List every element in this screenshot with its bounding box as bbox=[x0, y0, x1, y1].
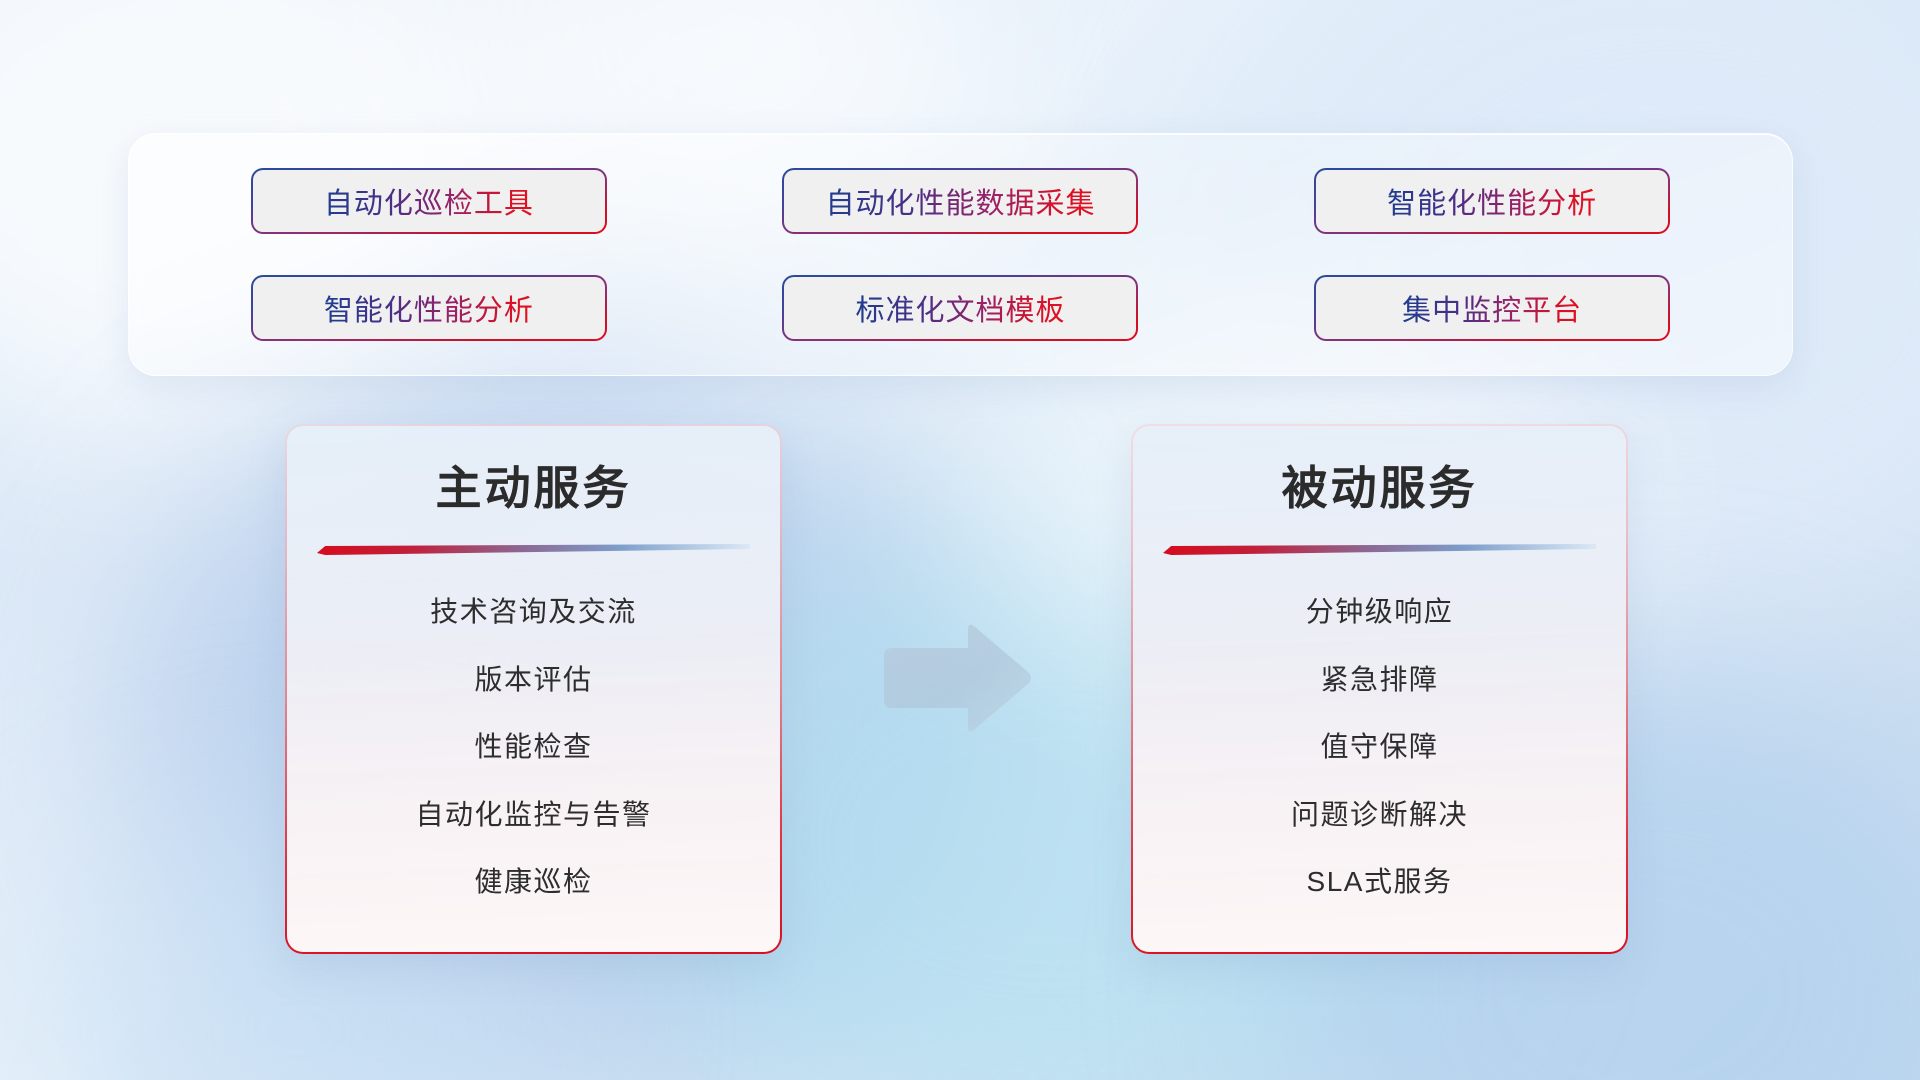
capability-pill-label: 智能化性能分析 bbox=[1387, 180, 1597, 222]
capability-pill-automated-performance-data-collection[interactable]: 自动化性能数据采集 bbox=[782, 168, 1138, 234]
pill-surface: 智能化性能分析 bbox=[253, 277, 605, 339]
service-list-item: 紧急排障 bbox=[1320, 658, 1438, 698]
arrow-right-icon bbox=[876, 618, 1036, 738]
capability-pill-automated-inspection-tool[interactable]: 自动化巡检工具 bbox=[251, 168, 607, 234]
service-list-item: 技术咨询及交流 bbox=[430, 590, 637, 630]
card-surface: 主动服务 技术咨询及交流 版本评估 性能检查 bbox=[287, 426, 780, 952]
pill-surface: 智能化性能分析 bbox=[1316, 170, 1668, 232]
title-divider bbox=[1163, 541, 1596, 557]
capability-pill-intelligent-performance-analysis[interactable]: 智能化性能分析 bbox=[1314, 168, 1670, 234]
card-surface: 被动服务 分钟级响应 紧急排障 值守保障 bbox=[1133, 426, 1626, 952]
service-card-proactive[interactable]: 主动服务 技术咨询及交流 版本评估 性能检查 bbox=[285, 424, 782, 954]
card-title: 主动服务 bbox=[436, 462, 632, 515]
capability-pill-label: 自动化巡检工具 bbox=[324, 180, 534, 222]
service-list-item: 健康巡检 bbox=[474, 860, 592, 900]
service-list-item: 性能检查 bbox=[474, 725, 592, 765]
capability-pill-label: 集中监控平台 bbox=[1402, 287, 1582, 329]
capability-pill-centralized-monitoring-platform[interactable]: 集中监控平台 bbox=[1314, 275, 1670, 341]
capability-pill-label: 自动化性能数据采集 bbox=[825, 180, 1095, 222]
capability-pill-label: 标准化文档模板 bbox=[855, 287, 1065, 329]
service-list-item: 分钟级响应 bbox=[1306, 590, 1454, 630]
capability-panel: 自动化巡检工具 自动化性能数据采集 智能化性能分析 智能化性能分析 标准化文档模… bbox=[128, 133, 1793, 376]
service-card-reactive[interactable]: 被动服务 分钟级响应 紧急排障 值守保障 bbox=[1131, 424, 1628, 954]
service-list-item: SLA式服务 bbox=[1307, 860, 1453, 900]
capability-pill-label: 智能化性能分析 bbox=[324, 287, 534, 329]
pill-surface: 自动化性能数据采集 bbox=[784, 170, 1136, 232]
pill-surface: 标准化文档模板 bbox=[784, 277, 1136, 339]
service-list-item: 值守保障 bbox=[1320, 725, 1438, 765]
service-item-list: 技术咨询及交流 版本评估 性能检查 自动化监控与告警 健康巡检 bbox=[317, 557, 750, 928]
pill-surface: 自动化巡检工具 bbox=[253, 170, 605, 232]
service-list-item: 自动化监控与告警 bbox=[415, 793, 651, 833]
capability-pill-intelligent-performance-analysis-2[interactable]: 智能化性能分析 bbox=[251, 275, 607, 341]
capability-pill-standardized-document-template[interactable]: 标准化文档模板 bbox=[782, 275, 1138, 341]
pill-surface: 集中监控平台 bbox=[1316, 277, 1668, 339]
card-title: 被动服务 bbox=[1282, 462, 1478, 515]
service-list-item: 版本评估 bbox=[474, 658, 592, 698]
service-list-item: 问题诊断解决 bbox=[1291, 793, 1468, 833]
title-divider bbox=[317, 541, 750, 557]
service-item-list: 分钟级响应 紧急排障 值守保障 问题诊断解决 SLA式服务 bbox=[1163, 557, 1596, 928]
